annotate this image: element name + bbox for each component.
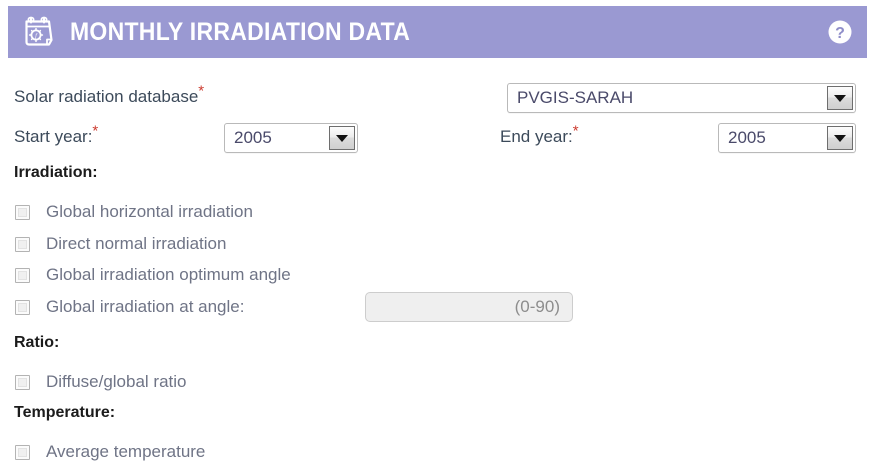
checkbox-row-global-horizontal-irradiation[interactable]: Global horizontal irradiation [15,201,253,223]
start-year-select[interactable]: 2005 [224,123,358,153]
end-year-label-text: End year: [500,127,573,146]
solar-radiation-database-select[interactable]: PVGIS-SARAH [507,83,856,113]
checkbox-diffuse-global-ratio[interactable] [15,375,30,390]
solar-radiation-database-label-text: Solar radiation database [14,87,198,106]
monthly-irradiation-panel: f MONTHLY IRRADIATION DATA ? Solar radia… [0,0,875,472]
checkbox-label: Average temperature [46,442,205,462]
ratio-section-heading: Ratio: [14,334,59,352]
panel-header: f MONTHLY IRRADIATION DATA ? [8,6,867,58]
checkbox-label: Global irradiation at angle: [46,297,244,317]
checkbox-label: Global horizontal irradiation [46,202,253,222]
end-year-select[interactable]: 2005 [718,123,856,153]
checkbox-label: Diffuse/global ratio [46,372,187,392]
panel-title: MONTHLY IRRADIATION DATA [70,18,410,47]
start-year-value: 2005 [225,124,329,152]
checkbox-row-diffuse-global-ratio[interactable]: Diffuse/global ratio [15,371,187,393]
end-year-value: 2005 [719,124,827,152]
checkbox-row-global-irradiation-optimum-angle[interactable]: Global irradiation optimum angle [15,264,291,286]
checkbox-row-direct-normal-irradiation[interactable]: Direct normal irradiation [15,233,226,255]
calendar-gear-icon: f [22,15,56,49]
required-asterisk: * [92,122,98,139]
solar-radiation-database-value: PVGIS-SARAH [508,84,827,112]
irradiation-section-heading: Irradiation: [14,164,98,182]
checkbox-global-horizontal-irradiation[interactable] [15,205,30,220]
required-asterisk: * [198,82,204,99]
chevron-down-icon[interactable] [827,86,853,110]
required-asterisk: * [573,122,579,139]
checkbox-global-irradiation-at-angle[interactable] [15,300,30,315]
checkbox-direct-normal-irradiation[interactable] [15,237,30,252]
checkbox-label: Direct normal irradiation [46,234,226,254]
start-year-label: Start year:* [14,127,98,147]
end-year-label: End year:* [500,127,579,147]
chevron-down-icon[interactable] [329,126,355,150]
chevron-down-icon[interactable] [827,126,853,150]
help-question-icon[interactable]: ? [827,19,853,45]
checkbox-average-temperature[interactable] [15,445,30,460]
solar-radiation-database-label: Solar radiation database* [14,87,204,107]
angle-input[interactable]: (0-90) [365,292,573,322]
checkbox-row-global-irradiation-at-angle[interactable]: Global irradiation at angle: [15,296,244,318]
checkbox-row-average-temperature[interactable]: Average temperature [15,441,205,463]
temperature-section-heading: Temperature: [14,404,115,422]
checkbox-label: Global irradiation optimum angle [46,265,291,285]
checkbox-global-irradiation-optimum-angle[interactable] [15,268,30,283]
start-year-label-text: Start year: [14,127,92,146]
svg-text:?: ? [835,25,845,42]
